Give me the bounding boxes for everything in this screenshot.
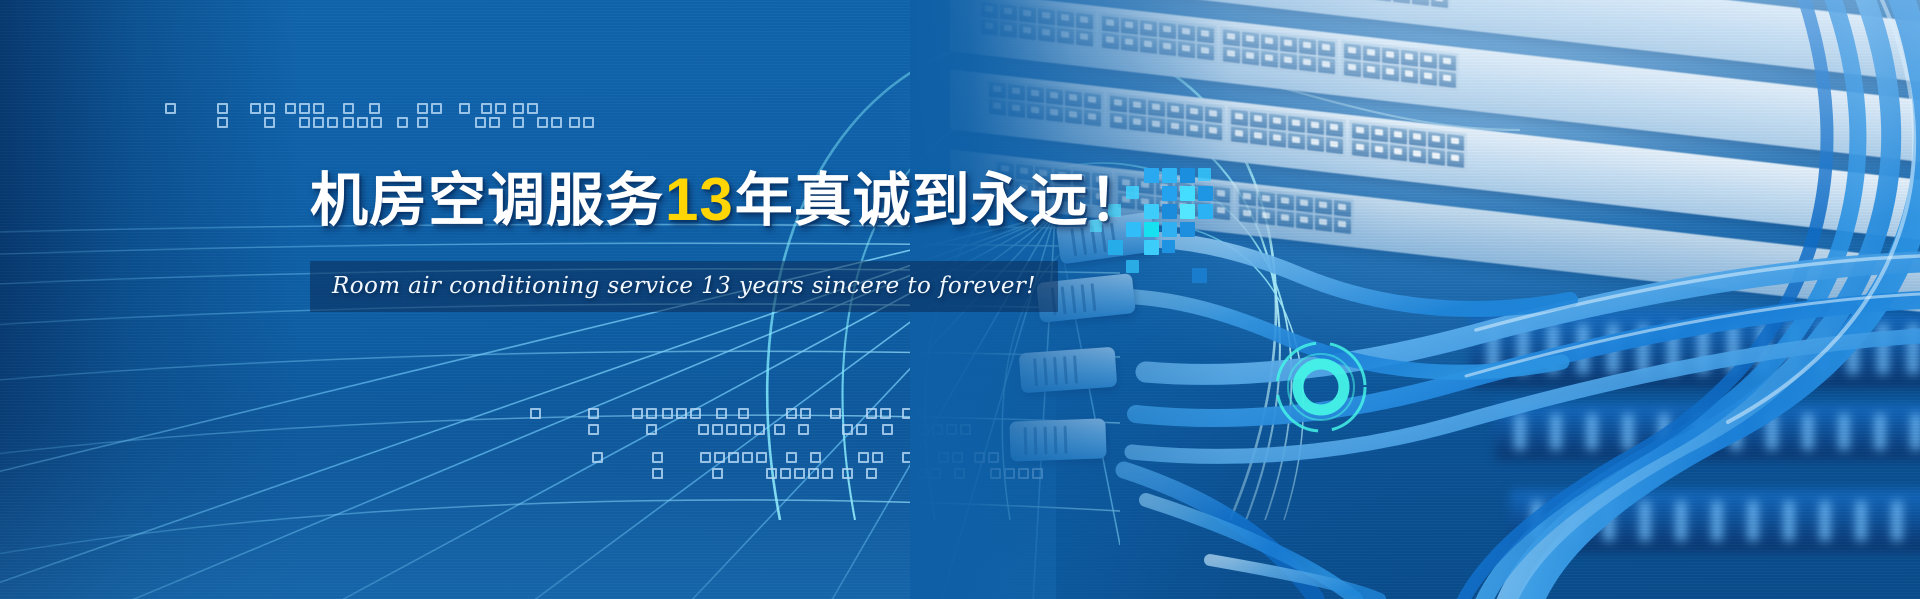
banner-subtitle: Room air conditioning service 13 years s… [332, 273, 1036, 299]
page-title: 机房空调服务13年真诚到永远！ [310, 168, 1148, 231]
headline-year-accent: 13 [664, 166, 735, 233]
headline-text-before: 机房空调服务 [310, 166, 664, 234]
tech-ring-decoration [1272, 338, 1370, 436]
square-dot-pattern-decoration [165, 103, 565, 137]
headline-text-after: 年真诚到永远！ [735, 166, 1148, 234]
hero-banner: 机房空调服务13年真诚到永远！ Room air conditioning se… [0, 0, 1920, 599]
banner-copy: 机房空调服务13年真诚到永远！ Room air conditioning se… [310, 168, 1148, 312]
subtitle-band: Room air conditioning service 13 years s… [310, 261, 1058, 312]
